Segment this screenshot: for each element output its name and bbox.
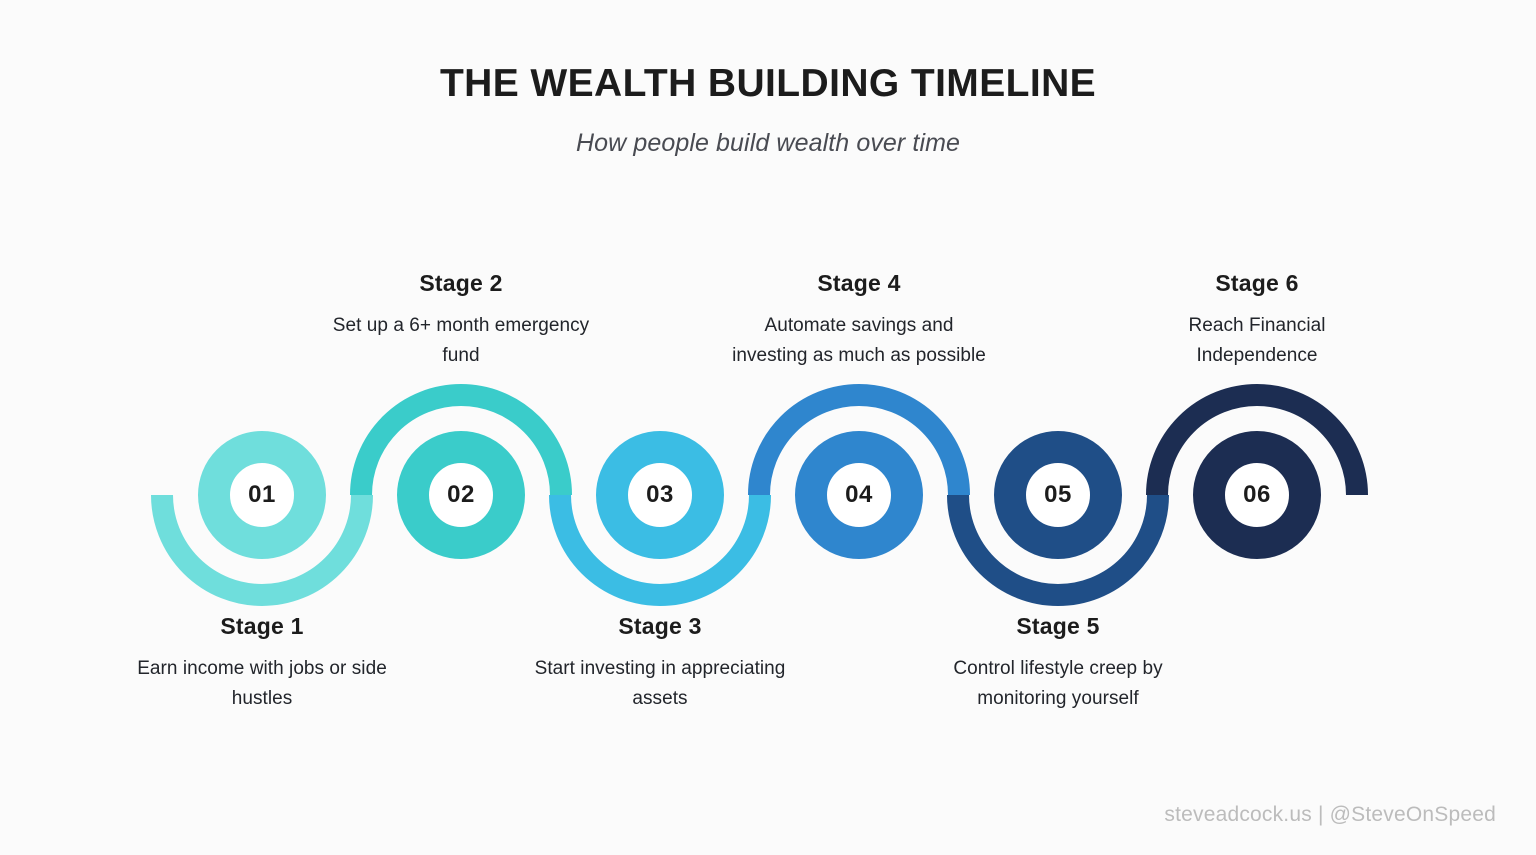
stage-ring-04[interactable]: 04 — [795, 431, 923, 559]
page-subtitle: How people build wealth over time — [0, 129, 1536, 158]
header: THE WEALTH BUILDING TIMELINE How people … — [0, 62, 1536, 158]
stage-number: 03 — [646, 483, 674, 507]
stage-label-06: Stage 6Reach Financial Independence — [1127, 270, 1387, 371]
stage-description: Set up a 6+ month emergency fund — [331, 311, 591, 371]
stage-label-03: Stage 3Start investing in appreciating a… — [530, 613, 790, 714]
stage-ring-06[interactable]: 06 — [1193, 431, 1321, 559]
stage-description: Automate savings and investing as much a… — [729, 311, 989, 371]
stage-number: 02 — [447, 483, 475, 507]
stage-ring-03[interactable]: 03 — [596, 431, 724, 559]
stage-title: Stage 5 — [928, 613, 1188, 640]
stage-ring-01[interactable]: 01 — [198, 431, 326, 559]
stage-label-02: Stage 2Set up a 6+ month emergency fund — [331, 270, 591, 371]
stage-description: Earn income with jobs or side hustles — [132, 654, 392, 714]
stage-number: 04 — [845, 483, 873, 507]
infographic-canvas: THE WEALTH BUILDING TIMELINE How people … — [0, 0, 1536, 855]
stage-label-04: Stage 4Automate savings and investing as… — [729, 270, 989, 371]
stage-description: Reach Financial Independence — [1127, 311, 1387, 371]
stage-number: 01 — [248, 483, 276, 507]
stage-description: Start investing in appreciating assets — [530, 654, 790, 714]
stage-title: Stage 1 — [132, 613, 392, 640]
stage-number: 05 — [1044, 483, 1072, 507]
stage-description: Control lifestyle creep by monitoring yo… — [928, 654, 1188, 714]
stage-label-05: Stage 5Control lifestyle creep by monito… — [928, 613, 1188, 714]
stage-ring-05[interactable]: 05 — [994, 431, 1122, 559]
stage-number: 06 — [1243, 483, 1271, 507]
stage-title: Stage 3 — [530, 613, 790, 640]
stage-title: Stage 6 — [1127, 270, 1387, 297]
stage-label-01: Stage 1Earn income with jobs or side hus… — [132, 613, 392, 714]
stage-title: Stage 4 — [729, 270, 989, 297]
stage-ring-02[interactable]: 02 — [397, 431, 525, 559]
stage-title: Stage 2 — [331, 270, 591, 297]
footer-attribution: steveadcock.us | @SteveOnSpeed — [1164, 803, 1496, 827]
page-title: THE WEALTH BUILDING TIMELINE — [0, 62, 1536, 107]
